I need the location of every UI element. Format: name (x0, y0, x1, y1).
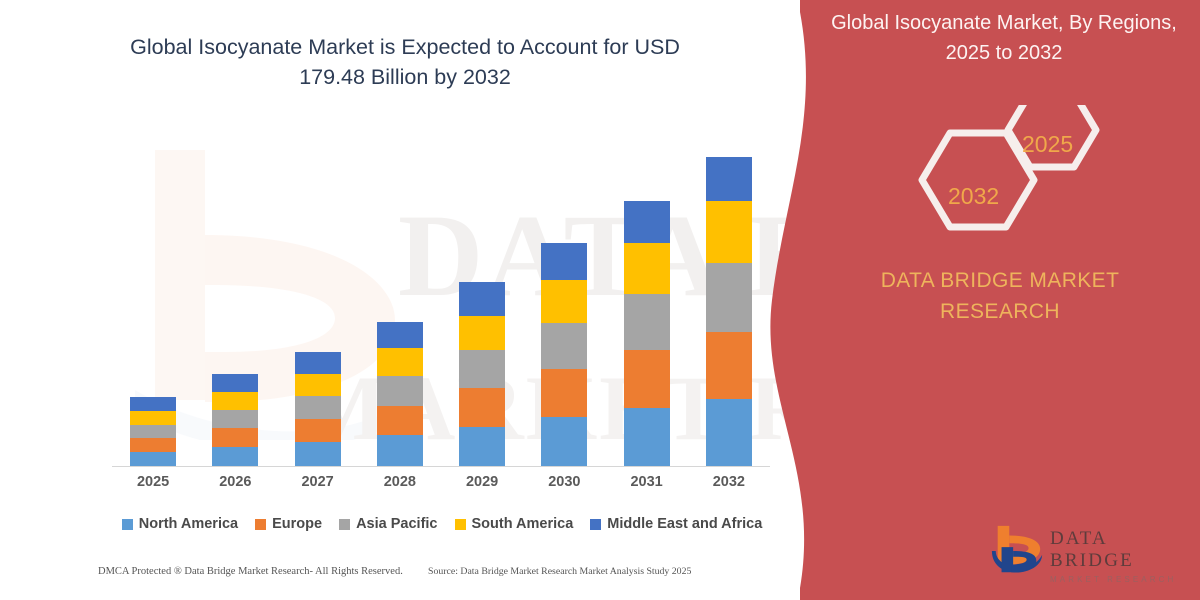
bar-slot (359, 140, 441, 466)
stacked-bar[interactable] (130, 397, 176, 466)
stacked-bar[interactable] (295, 352, 341, 466)
logo-text: DATA BRIDGE MARKET RESEARCH (1050, 528, 1190, 584)
bar-segment[interactable] (212, 428, 258, 447)
legend-swatch-icon (122, 519, 133, 530)
x-axis-tick-label: 2030 (523, 474, 605, 496)
legend-item[interactable]: Asia Pacific (339, 516, 437, 532)
hexagon-group: 2032 2025 (900, 105, 1130, 245)
brand-name-line1: DATA BRIDGE MARKET (881, 269, 1120, 292)
legend-label: Middle East and Africa (607, 516, 762, 532)
logo-subtitle: MARKET RESEARCH (1050, 575, 1190, 584)
x-axis-tick-label: 2031 (606, 474, 688, 496)
stacked-bar[interactable] (377, 322, 423, 466)
legend-label: North America (139, 516, 238, 532)
hexagon-front-icon (900, 105, 1130, 255)
bar-slot (112, 140, 194, 466)
bar-segment[interactable] (541, 243, 587, 281)
brand-name-line2: RESEARCH (940, 300, 1060, 323)
logo-title: DATA BRIDGE (1050, 528, 1190, 572)
legend-label: Asia Pacific (356, 516, 437, 532)
bar-segment[interactable] (212, 374, 258, 392)
bar-segment[interactable] (130, 438, 176, 452)
hexagon-back-label: 2032 (948, 183, 999, 210)
bar-segment[interactable] (295, 352, 341, 374)
legend-item[interactable]: Middle East and Africa (590, 516, 762, 532)
bar-segment[interactable] (377, 406, 423, 436)
x-axis-labels: 20252026202720282029203020312032 (112, 474, 770, 496)
x-axis-line (112, 466, 770, 467)
bar-segment[interactable] (624, 201, 670, 242)
company-logo: DATA BRIDGE MARKET RESEARCH (988, 520, 1188, 582)
bar-segment[interactable] (706, 399, 752, 466)
bar-segment[interactable] (377, 435, 423, 466)
legend-item[interactable]: South America (455, 516, 574, 532)
bar-segment[interactable] (624, 408, 670, 466)
footer: DMCA Protected ® Data Bridge Market Rese… (0, 566, 800, 590)
bar-segment[interactable] (459, 350, 505, 388)
bar-segment[interactable] (295, 419, 341, 443)
chart-title: Global Isocyanate Market is Expected to … (105, 32, 705, 92)
brand-name: DATA BRIDGE MARKET RESEARCH (830, 265, 1170, 327)
bar-segment[interactable] (541, 369, 587, 416)
x-axis-tick-label: 2029 (441, 474, 523, 496)
bar-segment[interactable] (459, 427, 505, 467)
bar-segment[interactable] (624, 350, 670, 407)
legend-label: Europe (272, 516, 322, 532)
bar-segment[interactable] (130, 397, 176, 411)
bar-segment[interactable] (295, 374, 341, 396)
bar-segment[interactable] (541, 323, 587, 369)
bar-segment[interactable] (212, 410, 258, 429)
bar-slot (688, 140, 770, 466)
legend-label: South America (472, 516, 574, 532)
footer-copyright: DMCA Protected ® Data Bridge Market Rese… (98, 566, 403, 577)
infographic-root: DATA BRIDGE MARKET RESEARCH Global Isocy… (0, 0, 1200, 600)
brand-panel-title: Global Isocyanate Market, By Regions, 20… (818, 8, 1190, 68)
x-axis-tick-label: 2026 (194, 474, 276, 496)
bar-segment[interactable] (541, 280, 587, 322)
bar-segment[interactable] (706, 157, 752, 201)
bar-slot (523, 140, 605, 466)
bar-segment[interactable] (459, 282, 505, 316)
legend-swatch-icon (339, 519, 350, 530)
bar-segment[interactable] (295, 442, 341, 466)
x-axis-tick-label: 2027 (277, 474, 359, 496)
x-axis-tick-label: 2025 (112, 474, 194, 496)
bar-segment[interactable] (130, 425, 176, 439)
bar-segment[interactable] (706, 263, 752, 332)
chart-legend: North AmericaEuropeAsia PacificSouth Ame… (112, 512, 772, 536)
bar-segment[interactable] (377, 376, 423, 406)
bar-segment[interactable] (624, 243, 670, 294)
bar-segment[interactable] (706, 332, 752, 399)
hexagon-front-label: 2025 (1022, 131, 1073, 158)
bar-segment[interactable] (212, 447, 258, 466)
legend-swatch-icon (590, 519, 601, 530)
bar-segment[interactable] (459, 388, 505, 427)
legend-item[interactable]: North America (122, 516, 238, 532)
bar-segment[interactable] (377, 348, 423, 376)
chart-pane: DATA BRIDGE MARKET RESEARCH Global Isocy… (0, 0, 800, 600)
legend-swatch-icon (255, 519, 266, 530)
bar-segment[interactable] (212, 392, 258, 410)
chart-bars-group (112, 140, 770, 466)
legend-swatch-icon (455, 519, 466, 530)
bar-slot (194, 140, 276, 466)
logo-mark-icon (988, 522, 1046, 578)
bar-segment[interactable] (377, 322, 423, 349)
stacked-bar[interactable] (459, 282, 505, 466)
bar-segment[interactable] (295, 396, 341, 419)
bar-slot (606, 140, 688, 466)
x-axis-tick-label: 2032 (688, 474, 770, 496)
legend-item[interactable]: Europe (255, 516, 322, 532)
bar-segment[interactable] (706, 201, 752, 262)
bar-slot (277, 140, 359, 466)
bar-segment[interactable] (624, 294, 670, 350)
bar-segment[interactable] (130, 452, 176, 466)
bar-segment[interactable] (541, 417, 587, 466)
x-axis-tick-label: 2028 (359, 474, 441, 496)
stacked-bar[interactable] (706, 157, 752, 466)
bar-slot (441, 140, 523, 466)
stacked-bar[interactable] (624, 201, 670, 466)
bar-segment[interactable] (130, 411, 176, 425)
bar-segment[interactable] (459, 316, 505, 351)
footer-source: Source: Data Bridge Market Research Mark… (428, 566, 691, 577)
stacked-bar[interactable] (212, 374, 258, 466)
stacked-bar[interactable] (541, 243, 587, 466)
brand-content: Global Isocyanate Market, By Regions, 20… (800, 0, 1200, 600)
